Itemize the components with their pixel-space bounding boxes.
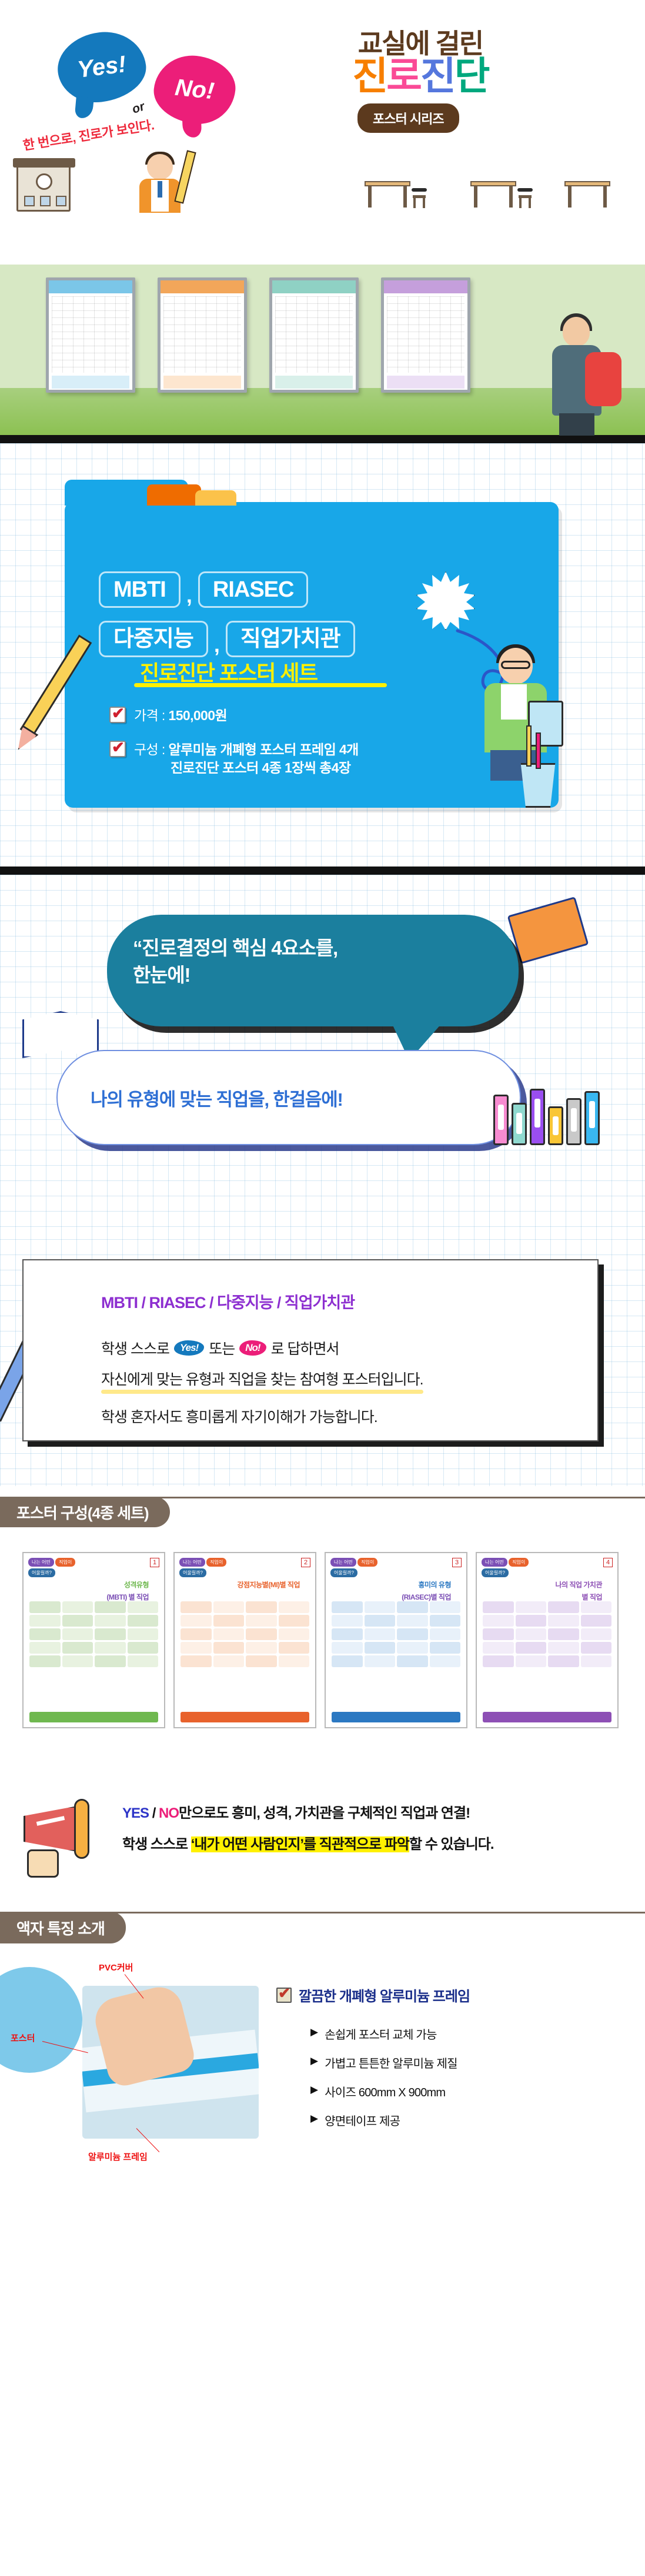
poster-number: 4 [603, 1558, 613, 1567]
teal-speech-bubble: “진로결정의 핵심 4요소를, 한눈에! [107, 915, 519, 1026]
poster-thumbnail[interactable]: 2 나는 어떤 직업이 어울릴까? 강점지능별(MI)별 직업 [173, 1552, 316, 1728]
triangle-bullet-icon: ▶ [310, 2054, 318, 2071]
product-detail-page: Yes! or No! 한 번으로, 진로가 보인다. 교실에 걸린 진로진단 … [0, 0, 645, 2576]
frame-heading-text: 깔끔한 개폐형 알루미늄 프레임 [299, 1985, 470, 2005]
logo-char-1: 진 [353, 54, 387, 98]
poster-title-1: 성격유형 [24, 1577, 164, 1590]
poster-header: 나는 어떤 직업이 어울릴까? [175, 1553, 315, 1577]
feature-item: ▶ 가볍고 튼튼한 알루미늄 제질 [310, 2054, 617, 2071]
teacher-icon [126, 154, 197, 213]
poster-bubble-3: 어울릴까? [330, 1568, 357, 1577]
frame-feature-list: ▶ 손쉽게 포스터 교체 가능 ▶ 가볍고 튼튼한 알루미늄 제질 ▶ 사이즈 … [276, 2025, 617, 2129]
label-poster: 포스터 [11, 2032, 35, 2044]
poster-bubble-2: 직업이 [55, 1558, 75, 1567]
chair-icon [517, 188, 533, 208]
mini-no-icon: No! [239, 1340, 266, 1356]
desk-icon [564, 181, 610, 208]
poster-title-2: 별 직업 [477, 1590, 617, 1602]
school-illustration [0, 147, 645, 212]
feature-label: 가볍고 튼튼한 알루미늄 제질 [325, 2054, 457, 2071]
yes-bubble-icon: Yes! [54, 27, 149, 106]
poster-thumbnail-list: 1 나는 어떤 직업이 어울릴까? 성격유형 (MBTI) 별 직업 [22, 1552, 622, 1728]
folder-tab-yellow [195, 490, 236, 506]
megaphone-line-1: YES / NO만으로도 흥미, 성격, 가치관을 구체적인 직업과 연결! [122, 1801, 616, 1822]
teal-line-2: 한눈에! [133, 962, 493, 989]
desk-icon [365, 181, 410, 208]
feature-label: 사이즈 600mm X 900mm [325, 2083, 445, 2100]
divider-bar-mid [0, 867, 645, 875]
white-speech-bubble: 나의 유형에 맞는 직업을, 한걸음에! [56, 1050, 521, 1145]
title-underline [134, 683, 387, 687]
poster-title-1: 나의 직업 가치관 [477, 1577, 617, 1590]
pencil-icon [20, 635, 92, 738]
megaphone-section: YES / NO만으로도 흥미, 성격, 가치관을 구체적인 직업과 연결! 학… [0, 1768, 645, 1898]
poster-bubble-2: 직업이 [206, 1558, 226, 1567]
bullet-composition: 구성 : 알루미늄 개폐형 포스터 프레임 4개 진로진단 포스터 4종 1장씩… [109, 741, 474, 778]
logo-char-3: 진 [420, 54, 454, 98]
composition-label: 구성 : [134, 742, 169, 757]
wall-frame-1 [46, 277, 135, 393]
logo-char-4: 단 [454, 54, 489, 98]
poster-bubble-3: 어울릴까? [28, 1568, 55, 1577]
logo-char-2: 로 [386, 54, 420, 98]
poster-number: 3 [452, 1558, 462, 1567]
decor-circle [0, 1967, 82, 2073]
poster-bubble-1: 나는 어떤 [482, 1558, 507, 1567]
poster-set-section: 포스터 구성(4종 세트) 1 나는 어떤 직업이 어울릴까? 성격유형 (MB… [0, 1486, 645, 1768]
chip-multiple-intelligence: 다중지능 [99, 621, 208, 657]
yes-text: YES [122, 1805, 149, 1821]
poster-title-1: 강점지능별(MI)별 직업 [175, 1577, 315, 1590]
poster-thumbnail[interactable]: 1 나는 어떤 직업이 어울릴까? 성격유형 (MBTI) 별 직업 [22, 1552, 165, 1728]
poster-thumbnail[interactable]: 3 나는 어떤 직업이 어울릴까? 흥미의 유형 (RIASEC)별 직업 [325, 1552, 467, 1728]
price-value: 150,000원 [169, 708, 228, 723]
poster-bubble-3: 어울릴까? [179, 1568, 206, 1577]
chip-riasec: RIASEC [198, 571, 309, 608]
white-line: 나의 유형에 맞는 직업을, 한걸음에! [91, 1085, 343, 1111]
feature-item: ▶ 사이즈 600mm X 900mm [310, 2083, 617, 2100]
card-heading: MBTI / RIASEC / 다중지능 / 직업가치관 [101, 1290, 597, 1313]
poster-bubble-1: 나는 어떤 [179, 1558, 205, 1567]
poster-title-1: 흥미의 유형 [326, 1577, 466, 1590]
bookshelf-icon [493, 1069, 629, 1145]
poster-grid [332, 1601, 460, 1708]
pen-yellow-icon [526, 725, 532, 767]
megaphone-line-2: 학생 스스로 ‘내가 어떤 사람인지’를 직관적으로 파악할 수 있습니다. [122, 1832, 616, 1853]
feature-item: ▶ 손쉽게 포스터 교체 가능 [310, 2025, 617, 2042]
frame-feature-section: 액자 특징 소개 PVC커버 포스터 알루미늄 프레임 깔끔한 개폐형 알루미늄… [0, 1898, 645, 2227]
poster-number: 1 [150, 1558, 159, 1567]
hero-section: Yes! or No! 한 번으로, 진로가 보인다. 교실에 걸린 진로진단 … [0, 0, 645, 265]
description-card: MBTI / RIASEC / 다중지능 / 직업가치관 학생 스스로 Yes!… [22, 1259, 599, 1441]
composition-value-1: 알루미늄 개폐형 포스터 프레임 4개 [169, 742, 359, 757]
folder-card: MBTI , RIASEC 다중지능 , 직업가치관 진로진단 포스터 세트 가… [65, 502, 559, 808]
check-icon [109, 707, 126, 723]
chair-icon [412, 188, 427, 208]
folder-tab-orange [147, 484, 201, 506]
poster-title-2 [175, 1590, 315, 1592]
card-line2-mid: 또는 [209, 1337, 235, 1359]
poster-number: 2 [301, 1558, 310, 1567]
poster-header: 나는 어떤 직업이 어울릴까? [24, 1553, 164, 1577]
poster-thumbnail[interactable]: 4 나는 어떤 직업이 어울릴까? 나의 직업 가치관 별 직업 [476, 1552, 619, 1728]
triangle-bullet-icon: ▶ [310, 2083, 318, 2100]
card-line2-b: 로 답하면서 [271, 1337, 339, 1359]
triangle-bullet-icon: ▶ [310, 2112, 318, 2129]
hero-badge: 포스터 시리즈 [357, 103, 459, 133]
frame-features: 깔끔한 개폐형 알루미늄 프레임 ▶ 손쉽게 포스터 교체 가능 ▶ 가볍고 튼… [276, 1985, 617, 2140]
poster-bubble-3: 어울릴까? [482, 1568, 509, 1577]
price-label: 가격 : [134, 708, 169, 723]
poster-set-ribbon: 포스터 구성(4종 세트) [0, 1497, 170, 1527]
line2-highlight: ‘내가 어떤 사람인지’를 직관적으로 파악 [191, 1836, 409, 1852]
or-label: or [131, 99, 146, 116]
megaphone-copy: YES / NO만으로도 흥미, 성격, 가치관을 구체적인 직업과 연결! 학… [122, 1801, 616, 1853]
poster-bubble-1: 나는 어떤 [330, 1558, 356, 1567]
frame-photo [82, 1986, 259, 2139]
student-reading-icon [464, 644, 576, 791]
classroom-photo-band [0, 265, 645, 435]
check-icon [276, 1988, 292, 2003]
no-bubble-label: No! [174, 75, 216, 105]
poster-bubble-2: 직업이 [357, 1558, 377, 1567]
chip-comma-2: , [214, 633, 220, 657]
divider-bar-top [0, 435, 645, 443]
pencil-cup-icon [517, 763, 559, 808]
label-pvc-cover: PVC커버 [99, 1961, 133, 1973]
speech-section: “진로결정의 핵심 4요소를, 한눈에! 나의 유형에 맞는 직업을, 한걸음에… [0, 875, 645, 1239]
product-folder-section: MBTI , RIASEC 다중지능 , 직업가치관 진로진단 포스터 세트 가… [0, 443, 645, 867]
teal-line-1: “진로결정의 핵심 4요소를, [133, 935, 493, 962]
label-aluminum-frame: 알루미늄 프레임 [88, 2150, 148, 2163]
line2-b: 할 수 있습니다. [409, 1836, 493, 1852]
poster-bubble-1: 나는 어떤 [28, 1558, 54, 1567]
chip-mbti: MBTI [99, 571, 181, 608]
poster-title-2: (MBTI) 별 직업 [24, 1590, 164, 1602]
separator-text: / [149, 1805, 159, 1821]
chip-comma-1: , [186, 583, 192, 608]
feature-label: 손쉽게 포스터 교체 가능 [325, 2025, 436, 2042]
hero-logo: 진로진단 [294, 56, 547, 96]
poster-grid [181, 1601, 309, 1708]
school-building-icon [16, 165, 71, 212]
book-icon [507, 896, 589, 964]
open-book-icon [22, 1011, 99, 1058]
poster-title-2: (RIASEC)별 직업 [326, 1590, 466, 1602]
line2-a: 학생 스스로 [122, 1836, 191, 1852]
poster-bubble-2: 직업이 [509, 1558, 529, 1567]
wall-frame-3 [269, 277, 359, 393]
feature-item: ▶ 양면테이프 제공 [310, 2112, 617, 2129]
poster-header: 나는 어떤 직업이 어울릴까? [477, 1553, 617, 1577]
desk-icon [470, 181, 516, 208]
poster-grid [29, 1601, 158, 1708]
folder-title: 진로진단 포스터 세트 [140, 656, 318, 687]
pen-pink-icon [536, 732, 541, 769]
card-line-3: 자신에게 맞는 유형과 직업을 찾는 참여형 포스터입니다. [101, 1368, 423, 1389]
poster-grid [483, 1601, 611, 1708]
poster-header: 나는 어떤 직업이 어울릴까? [326, 1553, 466, 1577]
student-photo-icon [536, 315, 624, 435]
frame-feature-heading: 깔끔한 개폐형 알루미늄 프레임 [276, 1985, 617, 2005]
wall-frame-4 [381, 277, 470, 393]
description-card-section: MBTI / RIASEC / 다중지능 / 직업가치관 학생 스스로 Yes!… [0, 1239, 645, 1486]
chip-work-values: 직업가치관 [226, 621, 355, 657]
triangle-bullet-icon: ▶ [310, 2025, 318, 2042]
megaphone-icon [24, 1795, 112, 1872]
check-icon [109, 741, 126, 757]
composition-value-2: 진로진단 포스터 4종 1장씩 총4장 [171, 759, 350, 778]
folder-bullets: 가격 : 150,000원 구성 : 알루미늄 개폐형 포스터 프레임 4개 진… [109, 707, 474, 793]
card-line-4: 학생 혼자서도 흥미롭게 자기이해가 가능합니다. [101, 1406, 597, 1427]
card-line-2: 학생 스스로 Yes! 또는 No! 로 답하면서 [101, 1337, 597, 1359]
chip-row-2: 다중지능 , 직업가치관 [99, 621, 510, 657]
mini-yes-icon: Yes! [174, 1340, 204, 1356]
wall-frame-2 [158, 277, 247, 393]
bullet-price: 가격 : 150,000원 [109, 707, 474, 725]
feature-label: 양면테이프 제공 [325, 2112, 400, 2129]
line1-rest: 만으로도 흥미, 성격, 가치관을 구체적인 직업과 연결! [179, 1805, 470, 1821]
yes-bubble-label: Yes! [76, 51, 128, 83]
frame-feature-ribbon: 액자 특징 소개 [0, 1912, 126, 1943]
card-line2-a: 학생 스스로 [101, 1337, 169, 1359]
no-text: NO [159, 1805, 179, 1821]
